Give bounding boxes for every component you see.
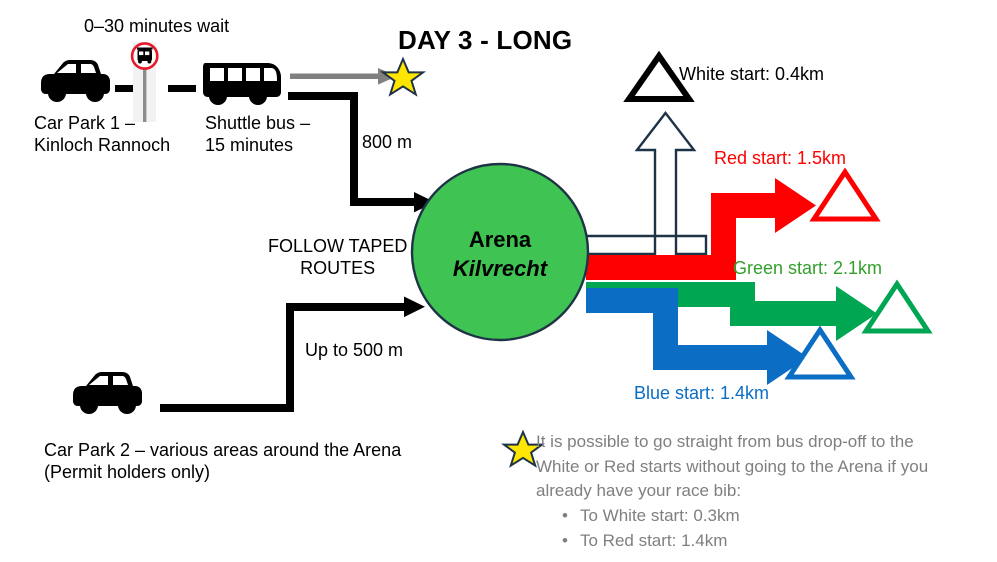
red-start-label: Red start: 1.5km <box>714 148 846 169</box>
note-bullet-item: To White start: 0.3km <box>562 504 966 529</box>
bus-icon <box>203 63 281 105</box>
car-park-1-label: Car Park 1 – Kinloch Rannoch <box>34 113 170 157</box>
arena-place: Kilvrecht <box>412 255 588 284</box>
shuttle-bus-label: Shuttle bus – 15 minutes <box>205 113 310 157</box>
follow-taped-routes-label: FOLLOW TAPED ROUTES <box>268 236 407 280</box>
wait-time-label: 0–30 minutes wait <box>84 16 229 38</box>
car-icon <box>73 372 142 414</box>
bus-stop-sign-icon <box>132 42 157 122</box>
distance-800m-label: 800 m <box>362 132 412 154</box>
white-route-arrow <box>586 113 706 254</box>
car-park-2-label: Car Park 2 – various areas around the Ar… <box>44 440 401 484</box>
blue-start-label: Blue start: 1.4km <box>634 383 769 404</box>
arena-title: Arena <box>412 226 588 255</box>
note-line-2: White or Red starts without going to the… <box>536 455 966 480</box>
grey-shortcut-arrow <box>290 68 397 85</box>
white-start-label: White start: 0.4km <box>679 64 824 85</box>
red-start-triangle <box>814 172 876 219</box>
note-line-3: already have your race bib: <box>536 479 966 504</box>
bus-dropoff-note: It is possible to go straight from bus d… <box>536 430 966 553</box>
green-start-triangle <box>866 284 928 331</box>
green-start-label: Green start: 2.1km <box>733 258 882 279</box>
page-title: DAY 3 - LONG <box>398 25 572 57</box>
note-bullet-item: To Red start: 1.4km <box>562 529 966 554</box>
distance-500m-label: Up to 500 m <box>305 340 403 362</box>
note-bullet-list: To White start: 0.3km To Red start: 1.4k… <box>536 504 966 553</box>
diagram-canvas: DAY 3 - LONG 0–30 minutes wait Car Park … <box>0 0 997 562</box>
arena-label: Arena Kilvrecht <box>412 226 588 283</box>
note-line-1: It is possible to go straight from bus d… <box>536 430 966 455</box>
car-icon <box>41 60 110 102</box>
star-icon <box>383 59 423 95</box>
